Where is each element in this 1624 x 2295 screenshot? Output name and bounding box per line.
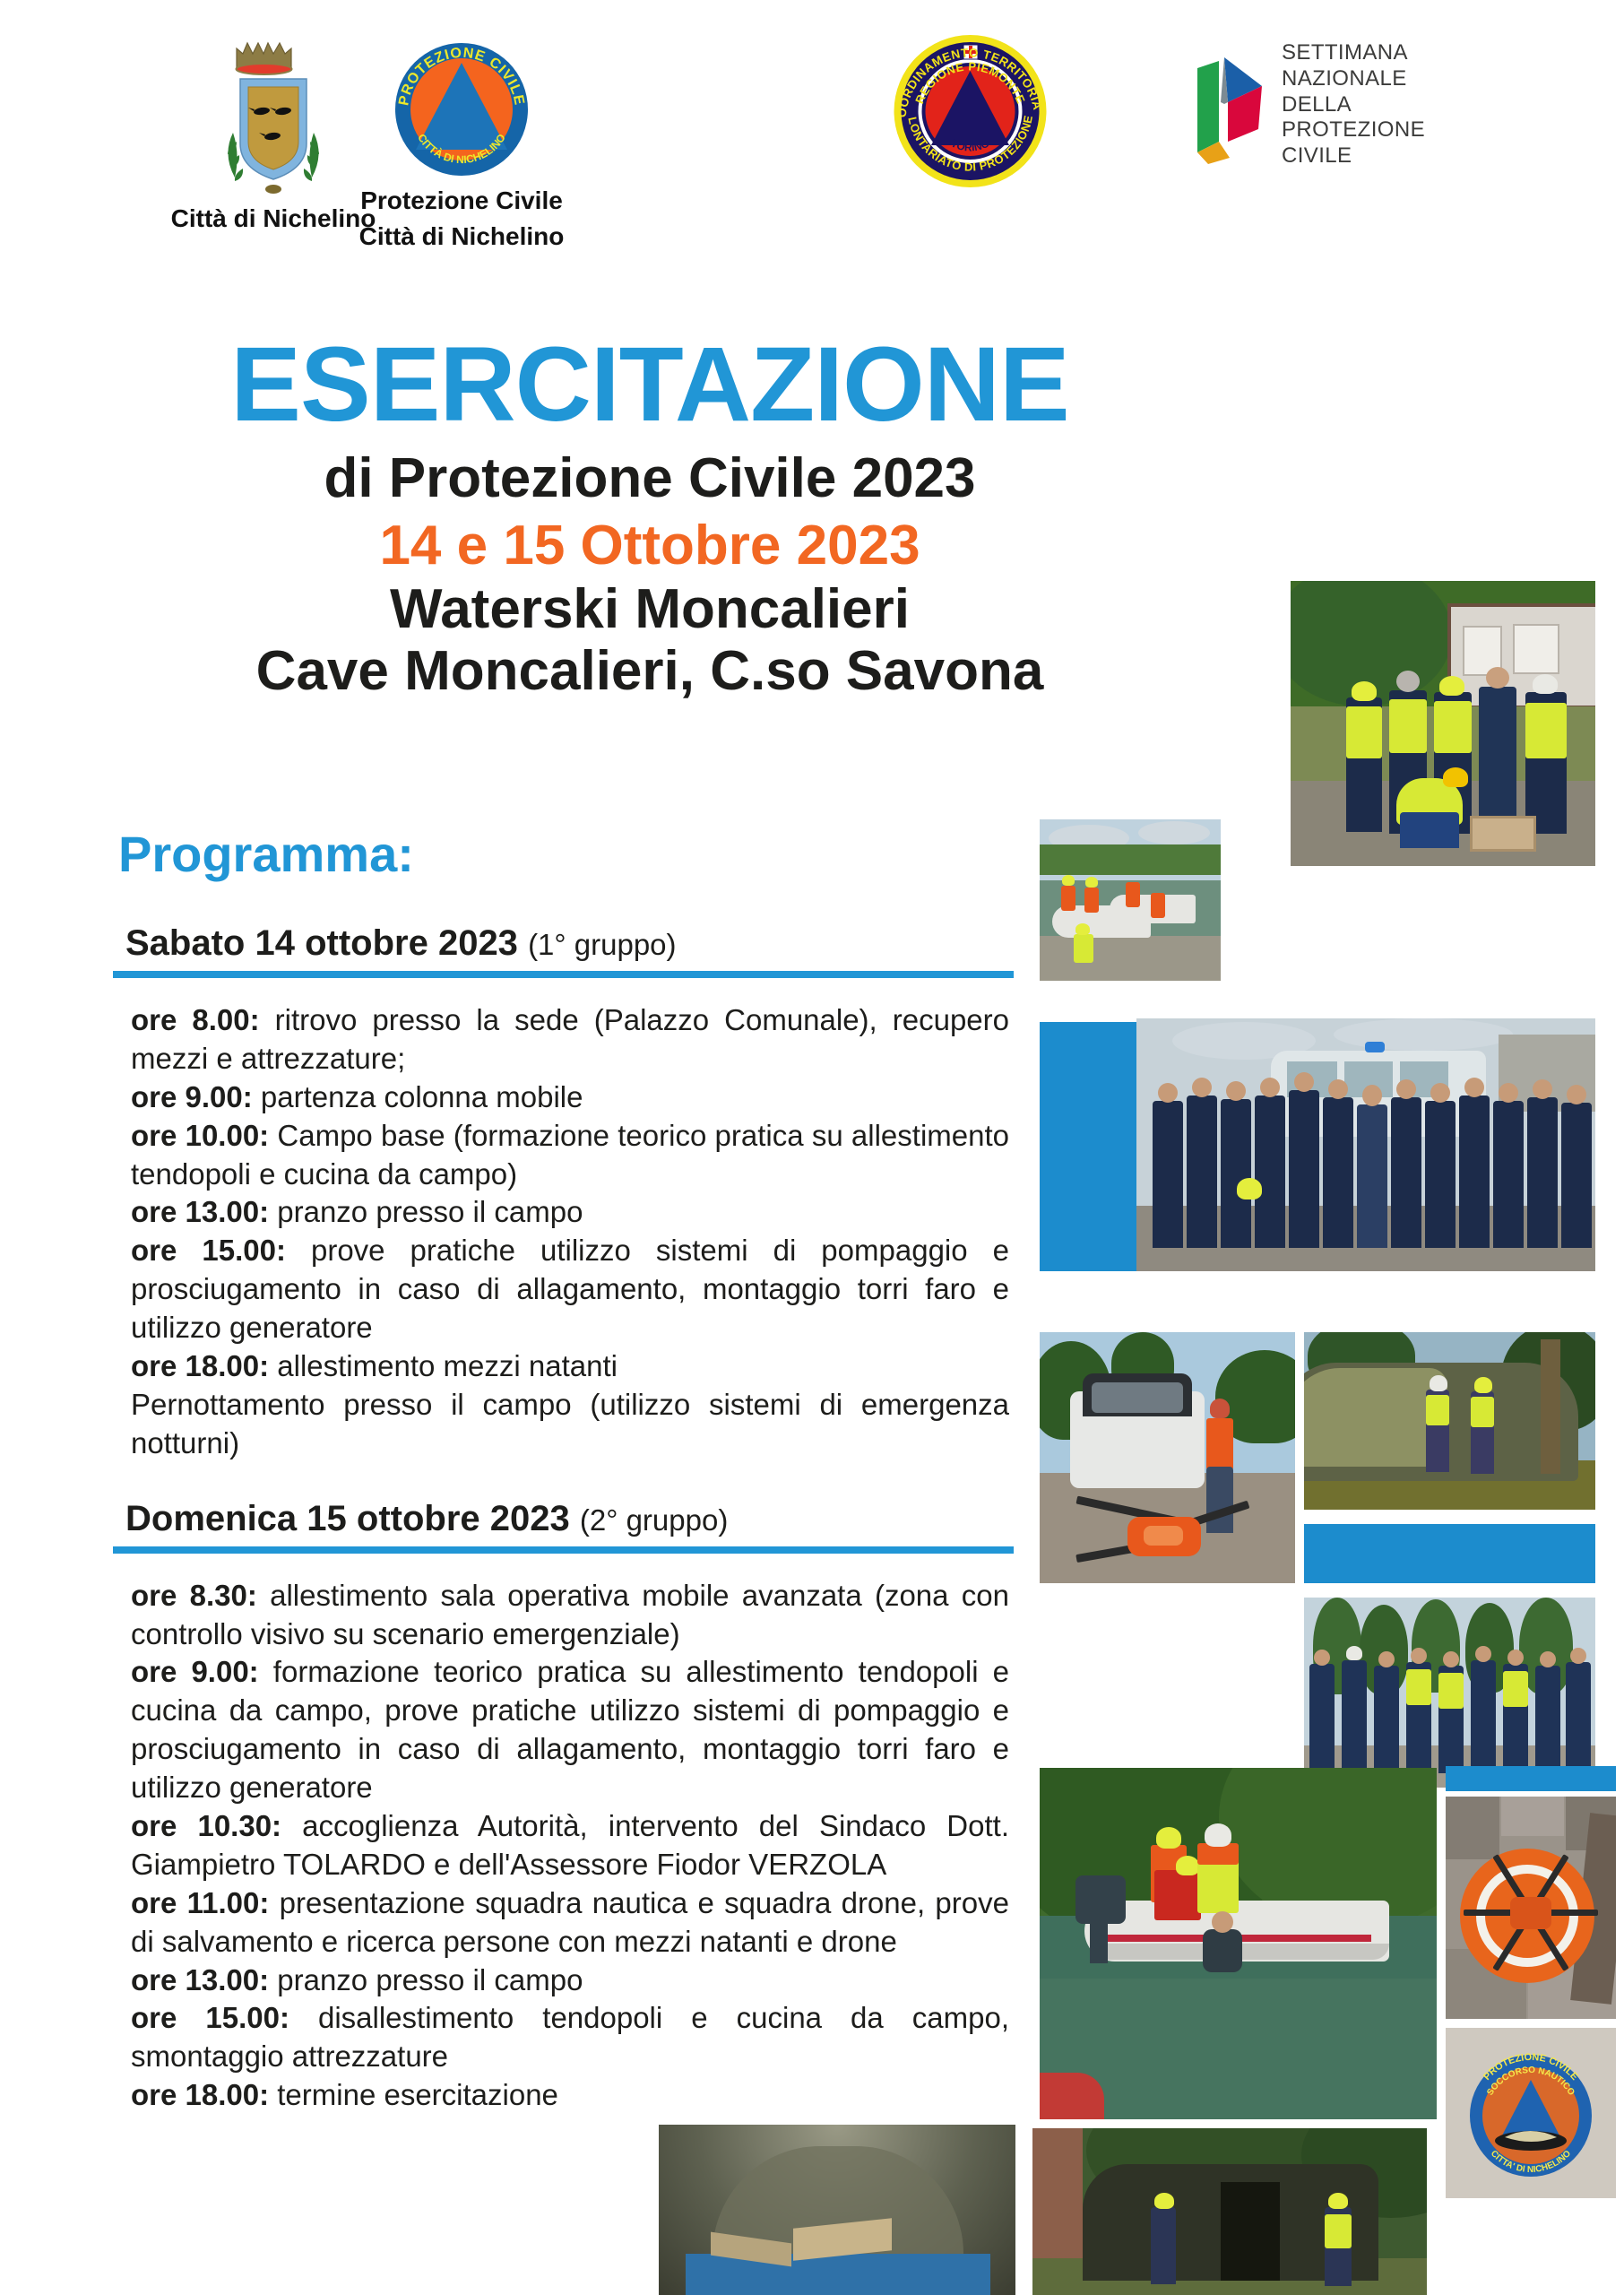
page-title: ESERCITAZIONE (0, 332, 1300, 437)
entry-text: allestimento sala operativa mobile avanz… (131, 1579, 1009, 1650)
program-column: Sabato 14 ottobre 2023 (1° gruppo) ore 8… (113, 923, 1009, 2115)
program-entry: ore 10.00: Campo base (formazione teoric… (131, 1117, 1009, 1194)
decor-blue-block-2 (1304, 1524, 1595, 1583)
coat-of-arms-icon (206, 27, 341, 197)
title-venue-line1: Waterski Moncalieri (0, 578, 1300, 640)
logo-caption-pc: Protezione Civile (332, 186, 592, 215)
entry-time: ore 13.00: (131, 1963, 269, 1996)
day-heading-text: Sabato 14 ottobre 2023 (125, 923, 518, 963)
settimana-line-1: SETTIMANA (1282, 40, 1425, 66)
program-entry: ore 13.00: pranzo presso il campo (131, 1193, 1009, 1232)
entry-time: ore 18.00: (131, 1349, 269, 1382)
protezione-civile-svg: PROTEZIONE CIVILE CITTÀ DI NICHELINO (390, 36, 533, 179)
photo-briefing-volunteers (1291, 581, 1595, 866)
day-underline (113, 1546, 1014, 1554)
day-heading-text: Domenica 15 ottobre 2023 (125, 1499, 570, 1538)
title-block: ESERCITAZIONE di Protezione Civile 2023 … (0, 332, 1300, 702)
program-entry: ore 10.30: accoglienza Autorità, interve… (131, 1807, 1009, 1884)
entry-time: ore 10.30: (131, 1809, 281, 1842)
title-venue-line2: Cave Moncalieri, C.so Savona (0, 640, 1300, 702)
decor-blue-block-3 (1446, 1766, 1616, 1791)
settimana-line-5: CIVILE (1282, 143, 1425, 169)
settimana-mark-svg (1192, 52, 1269, 164)
coordinamento-svg: COORDINAMENTO TERRITORIALE REGIONE PIEMO… (892, 31, 1049, 188)
photo-rescue-boat-water (1040, 1768, 1437, 2119)
settimana-line-3: DELLA (1282, 92, 1425, 118)
day-block-sabato: Sabato 14 ottobre 2023 (1° gruppo) ore 8… (113, 923, 1009, 1463)
programma-heading: Programma: (118, 825, 414, 883)
entry-text: pranzo presso il campo (269, 1195, 583, 1228)
logo-bar: Città di Nichelino PROTEZIONE CIVILE (0, 27, 1624, 278)
photo-tent-setup-green (1304, 1332, 1595, 1510)
program-entry: ore 9.00: formazione teorico pratica su … (131, 1653, 1009, 1807)
day-heading-domenica: Domenica 15 ottobre 2023 (2° gruppo) (113, 1499, 1009, 1539)
entry-time: ore 9.00: (131, 1655, 259, 1688)
coordinamento-territoriale-badge-icon: COORDINAMENTO TERRITORIALE REGIONE PIEMO… (892, 31, 1044, 184)
settimana-mark-icon (1192, 52, 1269, 158)
day-note-sabato: Pernottamento presso il campo (utilizzo … (131, 1386, 1009, 1463)
day-group-label: (1° gruppo) (528, 928, 676, 961)
entry-time: ore 8.30: (131, 1579, 257, 1612)
program-entry: ore 15.00: disallestimento tendopoli e c… (131, 1999, 1009, 2076)
program-entry: ore 15.00: prove pratiche utilizzo siste… (131, 1232, 1009, 1347)
settimana-text-block: SETTIMANA NAZIONALE DELLA PROTEZIONE CIV… (1282, 40, 1425, 169)
title-subtitle: di Protezione Civile 2023 (0, 446, 1300, 510)
entry-time: ore 15.00: (131, 1234, 286, 1267)
day-items-sabato: ore 8.00: ritrovo presso la sede (Palazz… (113, 1001, 1009, 1463)
entry-time: ore 15.00: (131, 2001, 289, 2034)
day-underline (113, 971, 1014, 978)
entry-time: ore 11.00: (131, 1886, 269, 1919)
day-items-domenica: ore 8.30: allestimento sala operativa mo… (113, 1577, 1009, 2115)
logo-protezione-civile-nichelino: PROTEZIONE CIVILE CITTÀ DI NICHELINO Pro… (332, 36, 592, 251)
photo-drone-landing-pad (1446, 1797, 1616, 2019)
entry-text: formazione teorico pratica su allestimen… (131, 1655, 1009, 1804)
patch-soccorso-nautico-icon: PROTEZIONE CIVILE SOCCORSO NAUTICO CITTA… (1446, 2028, 1616, 2198)
program-entry: ore 8.30: allestimento sala operativa mo… (131, 1577, 1009, 1654)
entry-time: ore 9.00: (131, 1080, 253, 1113)
program-entry: ore 8.00: ritrovo presso la sede (Palazz… (131, 1001, 1009, 1078)
entry-text: partenza colonna mobile (253, 1080, 583, 1113)
protezione-civile-badge-icon: PROTEZIONE CIVILE CITTÀ DI NICHELINO (390, 36, 533, 179)
program-entry: ore 18.00: termine esercitazione (131, 2076, 1009, 2115)
photo-tent-interior (659, 2125, 1015, 2295)
title-dates: 14 e 15 Ottobre 2023 (0, 514, 1300, 577)
entry-time: ore 8.00: (131, 1003, 260, 1036)
photo-group-line-outdoor (1304, 1598, 1595, 1788)
photo-group-team-van (1136, 1018, 1595, 1271)
coat-of-arms-svg (206, 27, 341, 197)
day-block-domenica: Domenica 15 ottobre 2023 (2° gruppo) ore… (113, 1499, 1009, 2115)
photo-boat-launch-river (1040, 819, 1221, 981)
entry-text: pranzo presso il campo (269, 1963, 583, 1996)
photo-drone-car-trunk (1040, 1332, 1295, 1583)
entry-time: ore 18.00: (131, 2078, 269, 2111)
photo-tent-dark-setup (1032, 2128, 1427, 2295)
logo-coordinamento-territoriale: COORDINAMENTO TERRITORIALE REGIONE PIEMO… (838, 31, 1098, 184)
entry-text: ritrovo presso la sede (Palazzo Comunale… (131, 1003, 1009, 1075)
day-heading-sabato: Sabato 14 ottobre 2023 (1° gruppo) (113, 923, 1009, 964)
decor-blue-block-1 (1040, 1022, 1136, 1271)
program-entry: ore 13.00: pranzo presso il campo (131, 1962, 1009, 2000)
program-entry: ore 9.00: partenza colonna mobile (131, 1078, 1009, 1117)
settimana-line-2: NAZIONALE (1282, 66, 1425, 92)
logo-settimana-nazionale: SETTIMANA NAZIONALE DELLA PROTEZIONE CIV… (1192, 40, 1577, 169)
poster-root: Città di Nichelino PROTEZIONE CIVILE (0, 0, 1624, 2295)
entry-text: termine esercitazione (269, 2078, 558, 2111)
entry-text: allestimento mezzi natanti (269, 1349, 618, 1382)
photo-patch-soccorso-nautico: PROTEZIONE CIVILE SOCCORSO NAUTICO CITTA… (1446, 2028, 1616, 2198)
settimana-line-4: PROTEZIONE (1282, 117, 1425, 143)
program-entry: ore 11.00: presentazione squadra nautica… (131, 1884, 1009, 1962)
logo-caption-pc-sub: Città di Nichelino (332, 222, 592, 251)
day-group-label: (2° gruppo) (580, 1503, 728, 1537)
program-entry: ore 18.00: allestimento mezzi natanti (131, 1347, 1009, 1386)
entry-time: ore 13.00: (131, 1195, 269, 1228)
entry-time: ore 10.00: (131, 1119, 269, 1152)
